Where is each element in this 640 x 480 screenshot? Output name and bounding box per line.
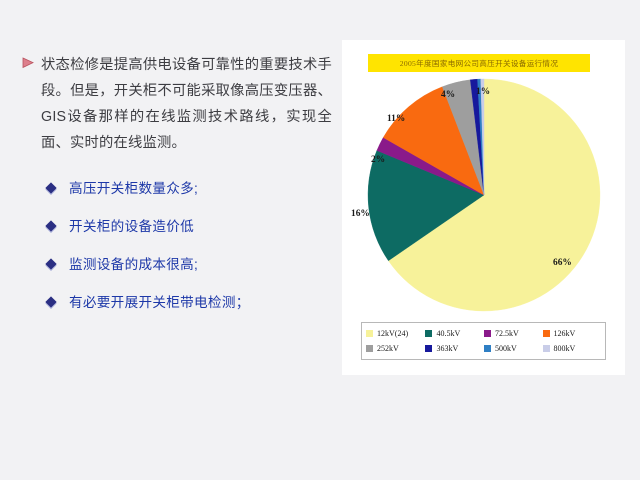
- slice-value-label-126kv: 11%: [387, 114, 405, 124]
- list-item-label: 有必要开展开关柜带电检测；: [69, 293, 250, 313]
- legend-label: 12kV(24): [377, 329, 408, 338]
- presentation-slide: 状态检修是提高供电设备可靠性的重要技术手段。但是，开关柜不可能采取像高压变压器、…: [0, 0, 640, 480]
- slice-value-label-72.5kv: 2%: [371, 155, 385, 165]
- legend-label: 800kV: [554, 344, 576, 353]
- legend-item-40.5kv[interactable]: 40.5kV: [425, 329, 484, 338]
- list-item-label: 开关柜的设备造价低: [69, 217, 194, 237]
- legend-swatch-icon: [425, 330, 432, 337]
- diamond-bullet-icon: [46, 221, 58, 233]
- list-item[interactable]: 开关柜的设备造价低: [46, 208, 332, 246]
- legend-item-363kv[interactable]: 363kV: [425, 344, 484, 353]
- slice-value-label-252kv: 4%: [441, 90, 455, 100]
- slice-value-label-40.5kv: 16%: [351, 209, 370, 219]
- legend-swatch-icon: [366, 345, 373, 352]
- list-item[interactable]: 监测设备的成本很高;: [46, 246, 332, 284]
- bullet-list: 高压开关柜数量众多; 开关柜的设备造价低 监测设备的成本很高; 有必要开展开关柜…: [22, 170, 332, 322]
- diamond-bullet-icon: [46, 183, 58, 195]
- legend-item-126kv[interactable]: 126kV: [543, 329, 602, 338]
- legend-label: 40.5kV: [436, 329, 460, 338]
- legend-swatch-icon: [425, 345, 432, 352]
- right-arrow-icon: [22, 57, 36, 69]
- lead-paragraph-text: 状态检修是提高供电设备可靠性的重要技术手段。但是，开关柜不可能采取像高压变压器、…: [41, 52, 332, 156]
- legend-item-252kv[interactable]: 252kV: [366, 344, 425, 353]
- legend-label: 500kV: [495, 344, 517, 353]
- text-column: 状态检修是提高供电设备可靠性的重要技术手段。但是，开关柜不可能采取像高压变压器、…: [22, 52, 332, 322]
- legend-label: 126kV: [554, 329, 576, 338]
- legend-label: 252kV: [377, 344, 399, 353]
- pie-chart: 11% 4% 1% 2% 16% 66%: [348, 78, 620, 313]
- legend-row-2: 252kV 363kV 500kV 800kV: [366, 341, 601, 356]
- legend-item-800kv[interactable]: 800kV: [543, 344, 602, 353]
- legend-label: 72.5kV: [495, 329, 519, 338]
- diamond-bullet-icon: [46, 297, 58, 309]
- legend-item-12kv[interactable]: 12kV(24): [366, 329, 425, 338]
- legend-swatch-icon: [484, 330, 491, 337]
- legend-swatch-icon: [484, 345, 491, 352]
- legend-item-500kv[interactable]: 500kV: [484, 344, 543, 353]
- chart-legend: 12kV(24) 40.5kV 72.5kV 126kV 2: [361, 322, 606, 360]
- list-item[interactable]: 有必要开展开关柜带电检测；: [46, 284, 332, 322]
- legend-row-1: 12kV(24) 40.5kV 72.5kV 126kV: [366, 326, 601, 341]
- legend-swatch-icon: [543, 345, 550, 352]
- diamond-bullet-icon: [46, 259, 58, 271]
- legend-item-72.5kv[interactable]: 72.5kV: [484, 329, 543, 338]
- slice-value-label-363kv: 1%: [476, 87, 490, 97]
- slice-value-label-12kv: 66%: [553, 258, 572, 268]
- chart-title-banner: 2005年度国家电网公司高压开关设备运行情况: [368, 54, 590, 72]
- list-item-label: 高压开关柜数量众多;: [69, 179, 198, 199]
- chart-panel: 2005年度国家电网公司高压开关设备运行情况 11% 4% 1% 2% 16% …: [342, 40, 625, 375]
- legend-swatch-icon: [543, 330, 550, 337]
- legend-swatch-icon: [366, 330, 373, 337]
- legend-label: 363kV: [436, 344, 458, 353]
- list-item-label: 监测设备的成本很高;: [69, 255, 198, 275]
- lead-paragraph-row: 状态检修是提高供电设备可靠性的重要技术手段。但是，开关柜不可能采取像高压变压器、…: [22, 52, 332, 156]
- list-item[interactable]: 高压开关柜数量众多;: [46, 170, 332, 208]
